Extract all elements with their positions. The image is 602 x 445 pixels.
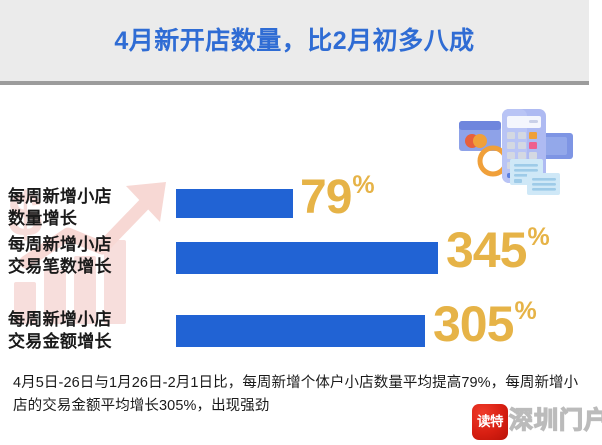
value-label: 79 % xyxy=(300,178,375,217)
row-label: 每周新增小店 交易金额增长 xyxy=(8,309,168,353)
value-label: 345 % xyxy=(446,230,550,271)
bar-fill xyxy=(176,189,293,218)
caption-text: 4月5日-26日与1月26日-2月1日比，每周新增个体户小店数量平均提高79%，… xyxy=(13,372,591,419)
chart-row: 每周新增小店 交易金额增长 305 % xyxy=(0,293,602,357)
header-band: 4月新开店数量，比2月初多八成 xyxy=(0,0,589,81)
row-label: 每周新增小店 交易笔数增长 xyxy=(8,234,168,278)
bar-fill xyxy=(176,242,438,274)
bar-fill xyxy=(176,315,425,347)
percent-symbol: % xyxy=(527,225,549,250)
chart-row: 每周新增小店 数量增长 79 % xyxy=(0,140,602,204)
bar-chart: 每周新增小店 数量增长 79 % 每周新增小店 交易笔数增长 345 % 每周新… xyxy=(0,100,602,362)
value-number: 345 xyxy=(446,230,526,271)
page-title: 4月新开店数量，比2月初多八成 xyxy=(114,29,474,54)
value-number: 305 xyxy=(433,304,513,345)
infographic-page: 4月新开店数量，比2月初多八成 $ xyxy=(0,0,602,445)
percent-symbol: % xyxy=(352,173,374,198)
value-label: 305 % xyxy=(433,304,537,345)
value-number: 79 xyxy=(300,178,351,217)
chart-row: 每周新增小店 交易笔数增长 345 % xyxy=(0,218,602,282)
percent-symbol: % xyxy=(514,299,536,324)
